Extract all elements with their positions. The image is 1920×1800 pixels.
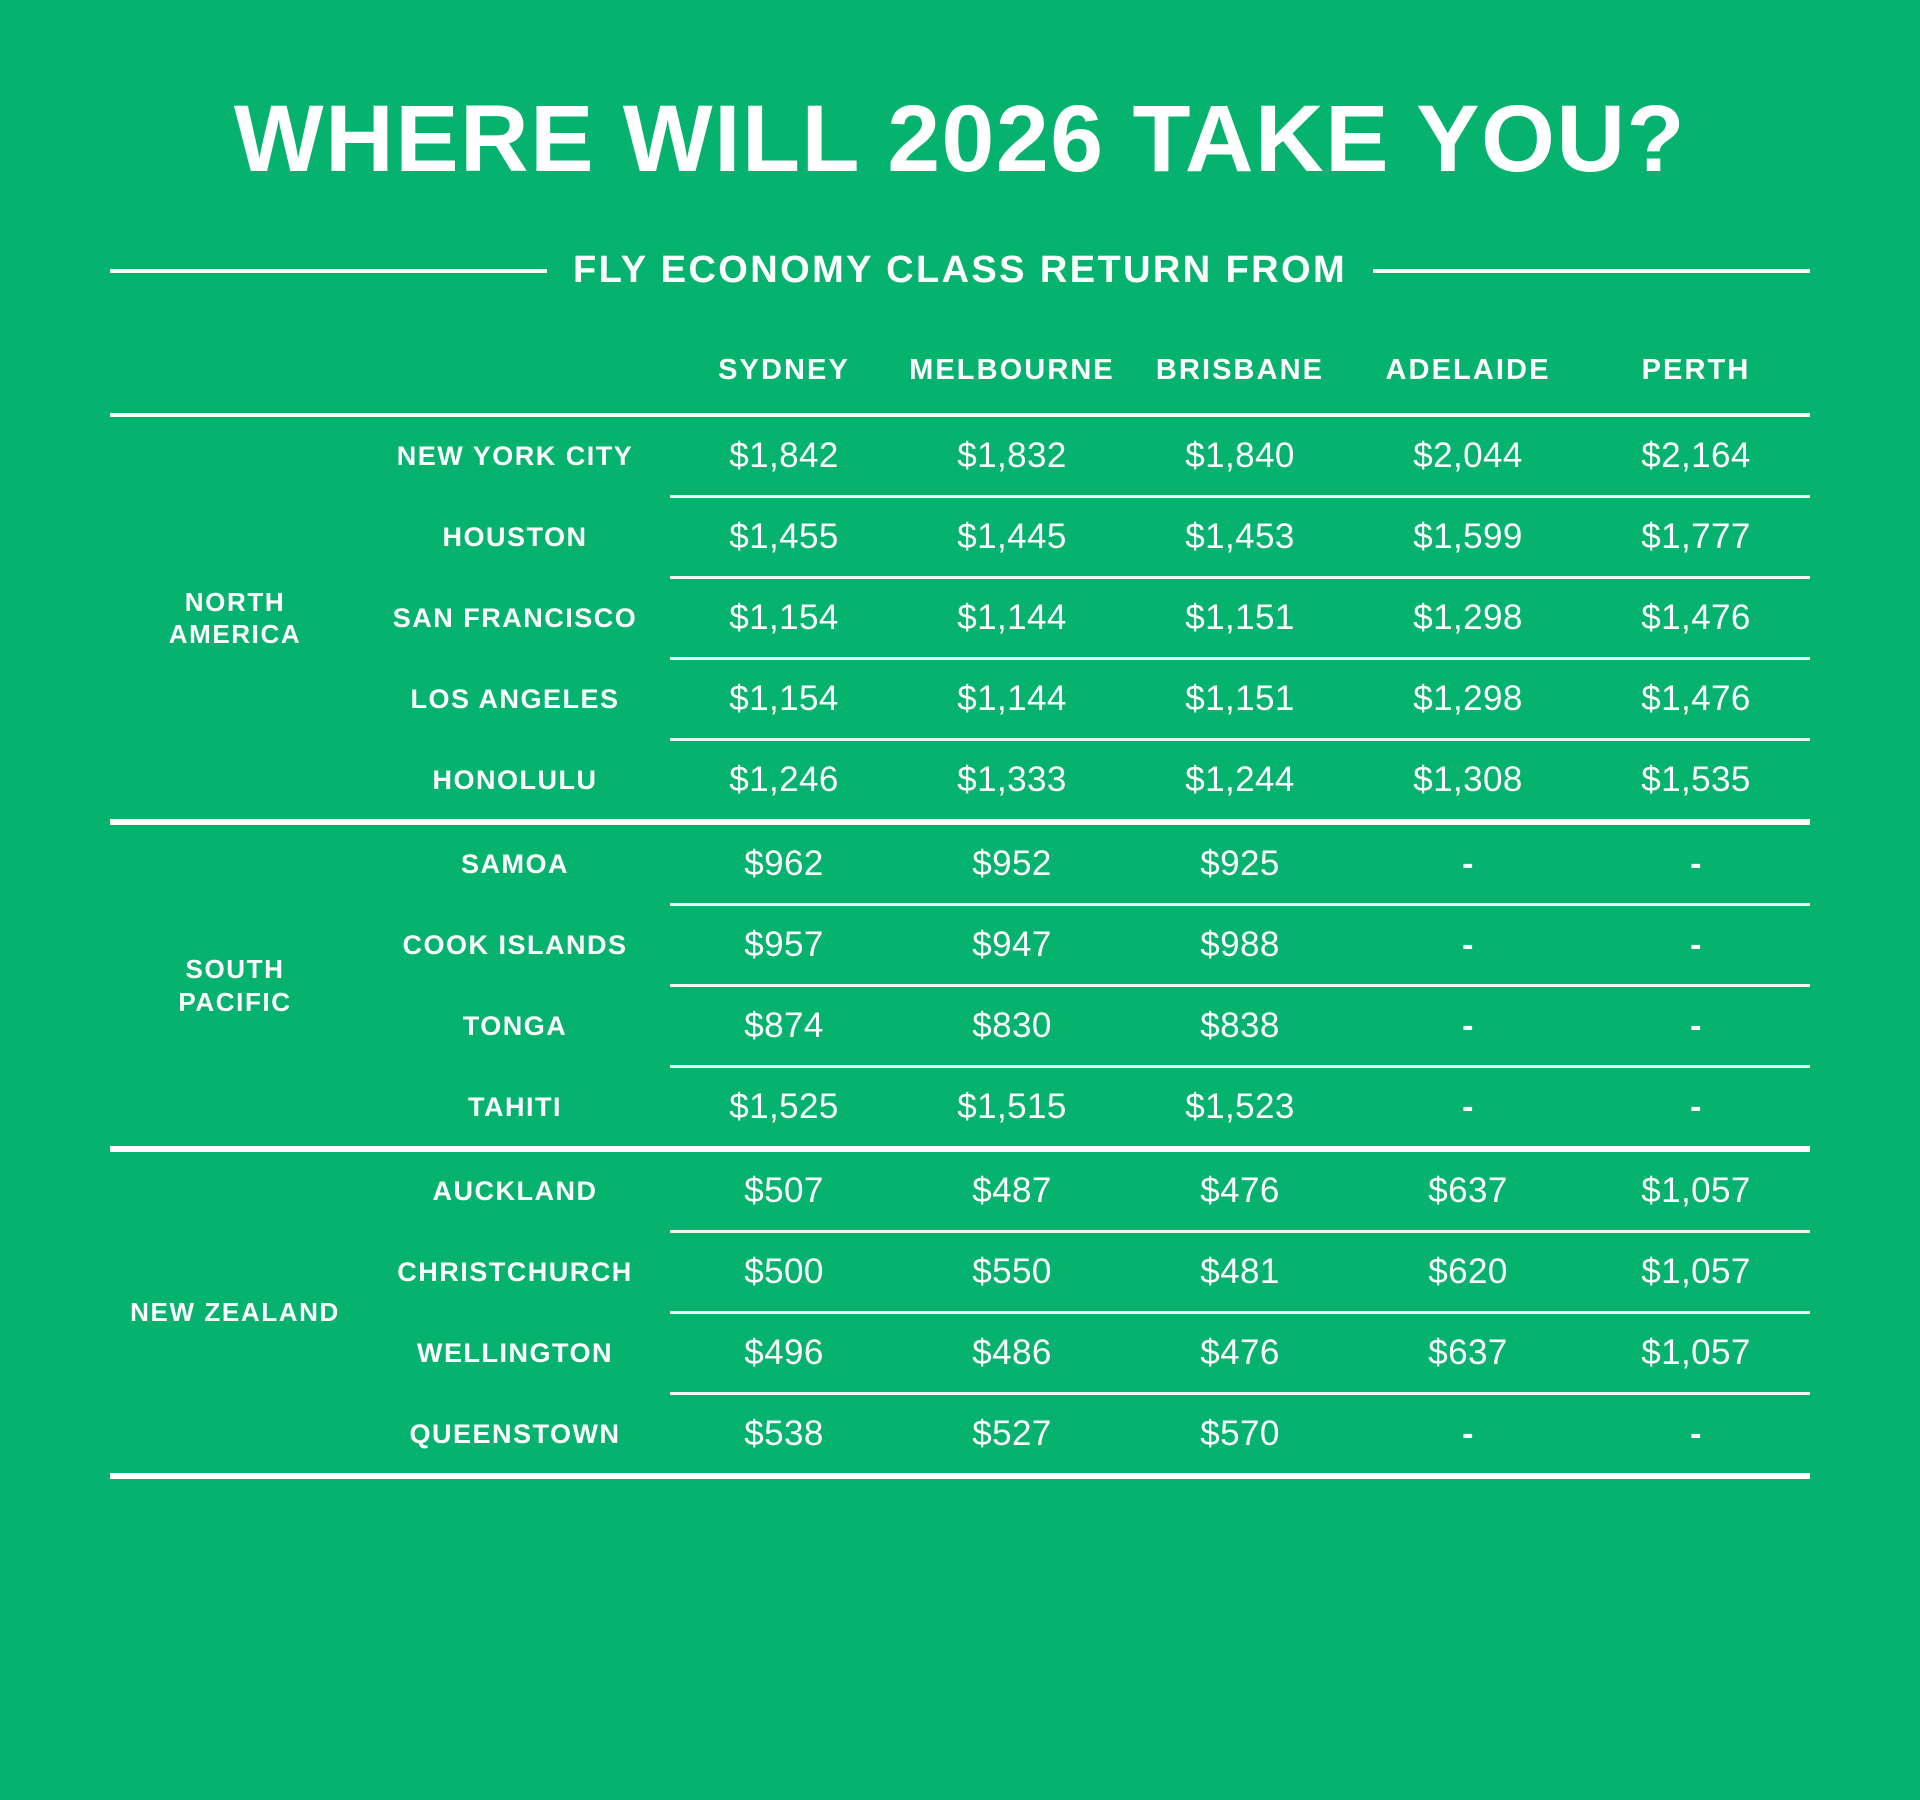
column-header-melbourne: MELBOURNE: [898, 354, 1126, 413]
region-label-north-america: NORTHAMERICA: [110, 417, 360, 819]
fare-cell-adelaide: $1,599: [1354, 498, 1582, 576]
separator-bar: [670, 1065, 1810, 1068]
fare-cell-melbourne: $952: [898, 825, 1126, 903]
fare-cell-sydney: $962: [670, 825, 898, 903]
table-row: SAN FRANCISCO$1,154$1,144$1,151$1,298$1,…: [110, 579, 1810, 657]
fare-cell-brisbane: $1,523: [1126, 1068, 1354, 1146]
row-separator: [110, 576, 1810, 579]
fare-cell-sydney: $874: [670, 987, 898, 1065]
subtitle-text: FLY ECONOMY CLASS RETURN FROM: [573, 249, 1347, 292]
fare-cell-brisbane: $570: [1126, 1395, 1354, 1473]
fares-table: SYDNEY MELBOURNE BRISBANE ADELAIDE PERTH…: [110, 354, 1810, 1479]
table-row: TONGA$874$830$838--: [110, 987, 1810, 1065]
table-body: NORTHAMERICANEW YORK CITY$1,842$1,832$1,…: [110, 413, 1810, 1479]
section-divider-bar: [110, 1473, 1810, 1479]
destination-label: SAN FRANCISCO: [360, 579, 670, 657]
separator-spacer: [360, 657, 670, 660]
separator-spacer: [360, 984, 670, 987]
row-separator: [110, 1311, 1810, 1314]
separator-spacer: [360, 1230, 670, 1233]
region-label-south-pacific: SOUTHPACIFIC: [110, 825, 360, 1146]
separator-bar: [670, 657, 1810, 660]
fare-cell-brisbane: $481: [1126, 1233, 1354, 1311]
fare-cell-brisbane: $925: [1126, 825, 1354, 903]
fare-cell-adelaide: $1,308: [1354, 741, 1582, 819]
fare-cell-brisbane: $1,151: [1126, 579, 1354, 657]
fare-cell-perth: $1,057: [1582, 1233, 1810, 1311]
separator-bar: [670, 738, 1810, 741]
table-row: HOUSTON$1,455$1,445$1,453$1,599$1,777: [110, 498, 1810, 576]
fare-cell-perth: -: [1582, 1068, 1810, 1146]
separator-spacer: [360, 903, 670, 906]
fare-cell-sydney: $1,525: [670, 1068, 898, 1146]
fare-cell-adelaide: -: [1354, 1068, 1582, 1146]
fare-cell-adelaide: $1,298: [1354, 579, 1582, 657]
region-label-line: PACIFIC: [178, 987, 291, 1017]
fare-cell-brisbane: $476: [1126, 1152, 1354, 1230]
separator-spacer: [360, 1311, 670, 1314]
fare-cell-brisbane: $1,453: [1126, 498, 1354, 576]
section-divider: [110, 1473, 1810, 1479]
separator-bar: [670, 1311, 1810, 1314]
fare-cell-melbourne: $550: [898, 1233, 1126, 1311]
fare-cell-adelaide: $2,044: [1354, 417, 1582, 495]
destination-label: TONGA: [360, 987, 670, 1065]
fare-cell-sydney: $1,455: [670, 498, 898, 576]
region-label-line: SOUTH: [186, 954, 285, 984]
fare-cell-perth: -: [1582, 906, 1810, 984]
subtitle-band: FLY ECONOMY CLASS RETURN FROM: [110, 187, 1810, 292]
fare-cell-brisbane: $476: [1126, 1314, 1354, 1392]
separator-spacer: [360, 576, 670, 579]
fare-cell-perth: $2,164: [1582, 417, 1810, 495]
separator-bar: [670, 903, 1810, 906]
fare-cell-sydney: $1,842: [670, 417, 898, 495]
fare-cell-melbourne: $830: [898, 987, 1126, 1065]
column-header-perth: PERTH: [1582, 354, 1810, 413]
separator-bar: [670, 1230, 1810, 1233]
fares-table-wrap: SYDNEY MELBOURNE BRISBANE ADELAIDE PERTH…: [110, 292, 1810, 1479]
column-header-row: SYDNEY MELBOURNE BRISBANE ADELAIDE PERTH: [110, 354, 1810, 413]
table-row: LOS ANGELES$1,154$1,144$1,151$1,298$1,47…: [110, 660, 1810, 738]
table-row: NEW ZEALANDAUCKLAND$507$487$476$637$1,05…: [110, 1152, 1810, 1230]
table-row: QUEENSTOWN$538$527$570--: [110, 1395, 1810, 1473]
separator-spacer: [360, 1065, 670, 1068]
fare-cell-sydney: $1,154: [670, 660, 898, 738]
table-row: NORTHAMERICANEW YORK CITY$1,842$1,832$1,…: [110, 417, 1810, 495]
column-header-adelaide: ADELAIDE: [1354, 354, 1582, 413]
region-label-line: AMERICA: [169, 619, 302, 649]
separator-spacer: [360, 1392, 670, 1395]
row-separator: [110, 1392, 1810, 1395]
row-separator: [110, 738, 1810, 741]
fare-cell-melbourne: $1,515: [898, 1068, 1126, 1146]
table-row: WELLINGTON$496$486$476$637$1,057: [110, 1314, 1810, 1392]
fare-cell-perth: $1,777: [1582, 498, 1810, 576]
fare-cell-brisbane: $1,840: [1126, 417, 1354, 495]
separator-bar: [670, 984, 1810, 987]
fare-cell-melbourne: $947: [898, 906, 1126, 984]
fare-cell-melbourne: $1,832: [898, 417, 1126, 495]
fare-cell-perth: $1,057: [1582, 1152, 1810, 1230]
fare-cell-brisbane: $838: [1126, 987, 1354, 1065]
separator-bar: [670, 576, 1810, 579]
fare-cell-adelaide: -: [1354, 906, 1582, 984]
destination-column-header: [360, 354, 670, 413]
fare-cell-perth: $1,476: [1582, 579, 1810, 657]
column-header-sydney: SYDNEY: [670, 354, 898, 413]
fare-cell-perth: -: [1582, 825, 1810, 903]
subtitle-rule-right: [1373, 269, 1810, 273]
table-head: SYDNEY MELBOURNE BRISBANE ADELAIDE PERTH: [110, 354, 1810, 413]
fare-cell-melbourne: $486: [898, 1314, 1126, 1392]
fare-cell-melbourne: $527: [898, 1395, 1126, 1473]
fare-cell-brisbane: $1,244: [1126, 741, 1354, 819]
fare-cell-adelaide: -: [1354, 825, 1582, 903]
fare-cell-adelaide: $637: [1354, 1314, 1582, 1392]
region-label-line: NORTH: [185, 587, 285, 617]
table-row: CHRISTCHURCH$500$550$481$620$1,057: [110, 1233, 1810, 1311]
destination-label: HONOLULU: [360, 741, 670, 819]
fare-cell-melbourne: $1,445: [898, 498, 1126, 576]
page-title: WHERE WILL 2026 TAKE YOU?: [0, 0, 1920, 187]
row-separator: [110, 657, 1810, 660]
row-separator: [110, 1230, 1810, 1233]
fare-cell-melbourne: $1,333: [898, 741, 1126, 819]
fare-cell-sydney: $507: [670, 1152, 898, 1230]
destination-label: HOUSTON: [360, 498, 670, 576]
fare-cell-sydney: $1,246: [670, 741, 898, 819]
row-separator: [110, 1065, 1810, 1068]
row-separator: [110, 495, 1810, 498]
fare-cell-perth: $1,535: [1582, 741, 1810, 819]
fare-cell-perth: -: [1582, 1395, 1810, 1473]
fare-cell-adelaide: $620: [1354, 1233, 1582, 1311]
separator-bar: [670, 1392, 1810, 1395]
table-row: SOUTHPACIFICSAMOA$962$952$925--: [110, 825, 1810, 903]
fare-cell-sydney: $500: [670, 1233, 898, 1311]
destination-label: NEW YORK CITY: [360, 417, 670, 495]
fare-cell-adelaide: -: [1354, 1395, 1582, 1473]
fare-cell-melbourne: $1,144: [898, 660, 1126, 738]
destination-label: CHRISTCHURCH: [360, 1233, 670, 1311]
destination-label: COOK ISLANDS: [360, 906, 670, 984]
fare-cell-melbourne: $487: [898, 1152, 1126, 1230]
separator-spacer: [360, 738, 670, 741]
separator-bar: [670, 495, 1810, 498]
fare-cell-adelaide: -: [1354, 987, 1582, 1065]
separator-spacer: [360, 495, 670, 498]
row-separator: [110, 984, 1810, 987]
destination-label: LOS ANGELES: [360, 660, 670, 738]
destination-label: QUEENSTOWN: [360, 1395, 670, 1473]
fare-cell-sydney: $1,154: [670, 579, 898, 657]
fare-cell-perth: $1,057: [1582, 1314, 1810, 1392]
region-label-line: NEW ZEALAND: [130, 1297, 340, 1327]
fare-cell-sydney: $538: [670, 1395, 898, 1473]
fare-cell-sydney: $496: [670, 1314, 898, 1392]
destination-label: TAHITI: [360, 1068, 670, 1146]
destination-label: SAMOA: [360, 825, 670, 903]
fare-cell-sydney: $957: [670, 906, 898, 984]
destination-label: AUCKLAND: [360, 1152, 670, 1230]
fare-cell-perth: -: [1582, 987, 1810, 1065]
fare-cell-brisbane: $988: [1126, 906, 1354, 984]
subtitle-rule-left: [110, 269, 547, 273]
region-label-new-zealand: NEW ZEALAND: [110, 1152, 360, 1473]
region-column-header: [110, 354, 360, 413]
fare-cell-perth: $1,476: [1582, 660, 1810, 738]
fare-cell-adelaide: $637: [1354, 1152, 1582, 1230]
destination-label: WELLINGTON: [360, 1314, 670, 1392]
fare-cell-brisbane: $1,151: [1126, 660, 1354, 738]
table-row: TAHITI$1,525$1,515$1,523--: [110, 1068, 1810, 1146]
row-separator: [110, 903, 1810, 906]
fare-cell-melbourne: $1,144: [898, 579, 1126, 657]
column-header-brisbane: BRISBANE: [1126, 354, 1354, 413]
table-row: COOK ISLANDS$957$947$988--: [110, 906, 1810, 984]
fare-cell-adelaide: $1,298: [1354, 660, 1582, 738]
poster-canvas: WHERE WILL 2026 TAKE YOU? FLY ECONOMY CL…: [0, 0, 1920, 1800]
table-row: HONOLULU$1,246$1,333$1,244$1,308$1,535: [110, 741, 1810, 819]
